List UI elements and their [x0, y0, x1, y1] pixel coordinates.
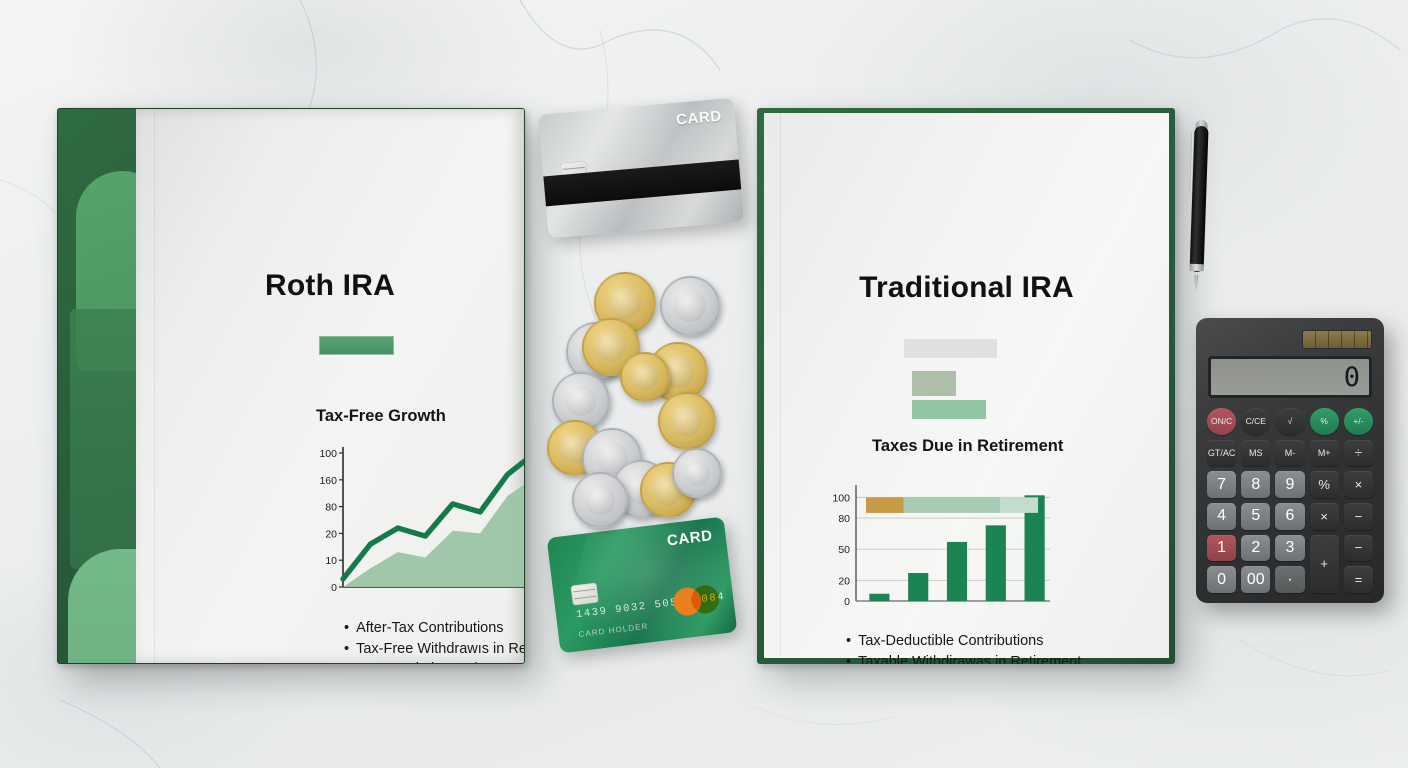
y-tick-label: 10 — [325, 555, 337, 567]
gold-coin — [620, 352, 670, 402]
chart-bar — [947, 542, 967, 601]
y-tick-label: 160 — [319, 475, 337, 487]
tax-free-growth-chart: 1001608020100 — [251, 439, 525, 607]
calc-key-[interactable]: +/- — [1344, 408, 1373, 435]
calc-key-[interactable]: · — [1275, 566, 1304, 593]
gold-coin — [658, 392, 716, 450]
calc-key-[interactable]: × — [1310, 503, 1339, 530]
roth-ira-page: Roth IRA Tax-Free Growth 1001608020100 $… — [136, 109, 524, 663]
calc-key-[interactable]: − — [1344, 535, 1373, 562]
silver-coin — [572, 472, 628, 528]
bullet-item: Tax-Free Withdrawıs in Retirement — [344, 639, 525, 660]
solar-panel — [1302, 330, 1372, 349]
calc-key-ONC[interactable]: ON/C — [1207, 408, 1236, 435]
mastercard-circles-icon — [672, 584, 721, 617]
y-tick-label: 50 — [838, 544, 850, 556]
bullet-item: Income Limits Apply — [344, 659, 525, 664]
deco-bar-1 — [904, 339, 997, 358]
y-tick-label: 20 — [325, 528, 337, 540]
y-tick-label: 0 — [844, 596, 850, 608]
taxes-due-heading: Taxes Due in Retirement — [872, 437, 1063, 456]
silver-coin — [672, 448, 722, 498]
overlay-segment — [904, 497, 1000, 513]
pen-tip — [1194, 275, 1199, 291]
calc-key-CCE[interactable]: C/CE — [1241, 408, 1270, 435]
calc-key-[interactable]: × — [1344, 471, 1373, 498]
calc-key-[interactable]: + — [1310, 535, 1339, 593]
pen-ring — [1190, 264, 1204, 271]
calc-key-9[interactable]: 9 — [1275, 471, 1304, 498]
calc-key-MS[interactable]: MS — [1241, 440, 1270, 467]
y-tick-label: 80 — [325, 502, 337, 514]
desk-scene: Roth IRA Tax-Free Growth 1001608020100 $… — [0, 0, 1408, 768]
chart-bar — [986, 525, 1006, 601]
roth-ira-title: Roth IRA — [136, 269, 524, 303]
calc-key-[interactable]: % — [1310, 471, 1339, 498]
calc-key-1[interactable]: 1 — [1207, 535, 1236, 562]
calculator[interactable]: 0 ON/CC/CE√%+/-GT/ACMSM-M+÷789%×456×−123… — [1196, 318, 1384, 603]
bullet-item: After-Tax Contributions — [344, 618, 525, 639]
traditional-ira-page: Traditional IRA Taxes Due in Retirement … — [764, 113, 1169, 658]
y-tick-label: 80 — [838, 513, 850, 525]
traditional-ira-document[interactable]: Traditional IRA Taxes Due in Retirement … — [757, 108, 1175, 664]
chart-y-axis-labels: 1001608020100 — [319, 448, 343, 594]
calc-key-4[interactable]: 4 — [1207, 503, 1236, 530]
calc-key-[interactable]: − — [1344, 503, 1373, 530]
tax-free-growth-heading: Tax-Free Growth — [316, 407, 446, 426]
chart-overlay-bar — [866, 497, 1038, 513]
traditional-ira-bullet-list: Tax-Deductible ContributionsTaxable With… — [846, 631, 1081, 664]
calc-key-M[interactable]: M+ — [1310, 440, 1339, 467]
calc-key-[interactable]: √ — [1275, 408, 1304, 435]
silver-credit-card[interactable]: CARD 1091 3033 9000 3000 — [538, 98, 744, 239]
y-tick-label: 20 — [838, 575, 850, 587]
chart-arrow-head — [524, 444, 525, 464]
y-tick-label: 0 — [331, 582, 337, 594]
overlay-segment — [1000, 497, 1038, 513]
silver-coin — [660, 276, 720, 336]
card-chip-icon — [571, 583, 599, 606]
calc-key-[interactable]: ÷ — [1344, 440, 1373, 467]
y-tick-label: 100 — [832, 492, 850, 504]
calc-key-7[interactable]: 7 — [1207, 471, 1236, 498]
bullet-item: Tax-Deductible Contributions — [846, 631, 1081, 652]
calc-key-6[interactable]: 6 — [1275, 503, 1304, 530]
chart-bar — [908, 573, 928, 601]
roth-ira-bullet-list: After-Tax ContributionsTax-Free Withdraw… — [344, 618, 525, 664]
chart-y-axis-labels: 1008050200 — [832, 492, 850, 608]
deco-bar-3 — [912, 400, 986, 419]
green-credit-card[interactable]: CARD 1439 9032 5059 3084 CARD HOLDER — [547, 517, 738, 654]
display-value: 0 — [1344, 362, 1361, 393]
calc-key-3[interactable]: 3 — [1275, 535, 1304, 562]
chart-area-fill — [343, 477, 525, 587]
calculator-keypad[interactable]: ON/CC/CE√%+/-GT/ACMSM-M+÷789%×456×−123+−… — [1207, 408, 1373, 593]
calc-key-M[interactable]: M- — [1275, 440, 1304, 467]
bullet-item: Taxable Withdirawas in Retirement — [846, 652, 1081, 665]
calc-key-GTAC[interactable]: GT/AC — [1207, 440, 1236, 467]
taxes-due-chart: 1008050200 — [812, 479, 1057, 619]
calc-key-5[interactable]: 5 — [1241, 503, 1270, 530]
deco-bar-2 — [912, 371, 956, 396]
overlay-segment — [866, 497, 904, 513]
roth-ira-document[interactable]: Roth IRA Tax-Free Growth 1001608020100 $… — [57, 108, 525, 664]
pen[interactable] — [1183, 112, 1215, 291]
calc-key-0[interactable]: 0 — [1207, 566, 1236, 593]
traditional-ira-title: Traditional IRA — [764, 271, 1169, 305]
accent-bar — [319, 336, 394, 355]
calc-key-00[interactable]: 00 — [1241, 566, 1270, 593]
calc-key-[interactable]: % — [1310, 408, 1339, 435]
calc-key-2[interactable]: 2 — [1241, 535, 1270, 562]
calculator-display: 0 — [1208, 356, 1372, 398]
calc-key-8[interactable]: 8 — [1241, 471, 1270, 498]
y-tick-label: 100 — [319, 448, 337, 460]
calc-key-[interactable]: = — [1344, 566, 1373, 593]
chart-bar — [869, 594, 889, 601]
